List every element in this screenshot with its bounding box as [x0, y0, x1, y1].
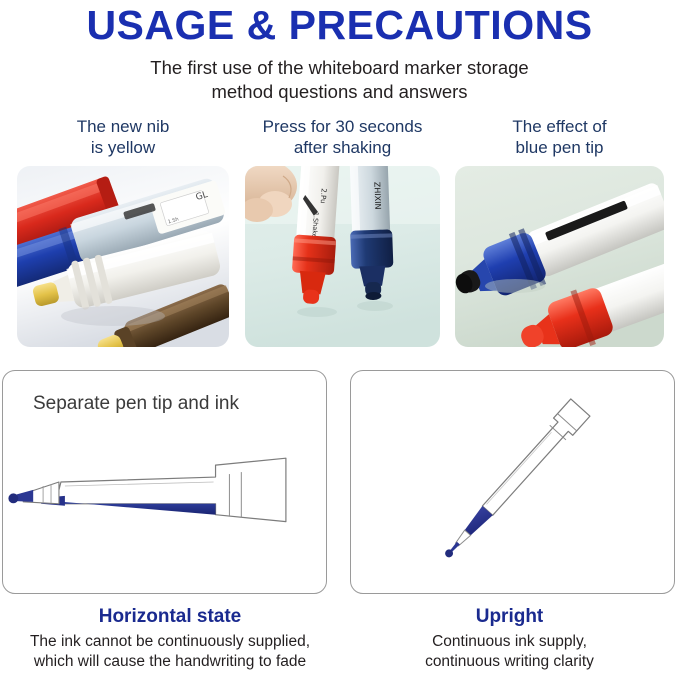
svg-text:2.Pu: 2.Pu: [319, 188, 328, 204]
footer-horizontal-desc: The ink cannot be continuously supplied,…: [0, 632, 340, 672]
footer-horizontal-desc-line1: The ink cannot be continuously supplied,: [0, 632, 340, 652]
photo-blue-pen-tip-effect: [455, 166, 664, 347]
page-subtitle-line2: method questions and answers: [0, 80, 679, 104]
step-caption-2: Press for 30 seconds after shaking: [245, 116, 440, 158]
page-title: USAGE & PRECAUTIONS: [0, 2, 679, 48]
footer-upright-desc: Continuous ink supply, continuous writin…: [340, 632, 679, 672]
step-caption-1: The new nib is yellow: [17, 116, 229, 158]
step-caption-1-line2: is yellow: [17, 137, 229, 158]
page-subtitle-line1: The first use of the whiteboard marker s…: [0, 56, 679, 80]
step-caption-3: The effect of blue pen tip: [455, 116, 664, 158]
footer-upright-heading: Upright: [340, 604, 679, 630]
diagram-panel-horizontal: Separate pen tip and ink: [2, 370, 327, 594]
footer-horizontal-heading: Horizontal state: [0, 604, 340, 630]
step-caption-3-line2: blue pen tip: [455, 137, 664, 158]
step-caption-2-line1: Press for 30 seconds: [245, 116, 440, 137]
footer-upright-desc-line2: continuous writing clarity: [340, 652, 679, 672]
step-caption-3-line1: The effect of: [455, 116, 664, 137]
page-subtitle: The first use of the whiteboard marker s…: [0, 56, 679, 104]
photo-press-marker-30-seconds: 2.Pu 1.Shake ZHIXIN: [245, 166, 440, 347]
footer-upright-desc-line1: Continuous ink supply,: [340, 632, 679, 652]
step-caption-2-line2: after shaking: [245, 137, 440, 158]
diagram-marker-horizontal: [3, 371, 326, 593]
diagram-panel-upright: [350, 370, 675, 594]
footer-horizontal-desc-line2: which will cause the handwriting to fade: [0, 652, 340, 672]
footer-horizontal: Horizontal state The ink cannot be conti…: [0, 604, 340, 674]
step-caption-row: The new nib is yellow Press for 30 secon…: [0, 116, 679, 164]
diagram-marker-upright: [351, 371, 674, 593]
photo-markers-yellow-nib: GL 1.Sh: [17, 166, 229, 347]
footer-upright: Upright Continuous ink supply, continuou…: [340, 604, 679, 674]
svg-text:ZHIXIN: ZHIXIN: [372, 182, 382, 210]
step-caption-1-line1: The new nib: [17, 116, 229, 137]
infographic-page: USAGE & PRECAUTIONS The first use of the…: [0, 0, 679, 676]
